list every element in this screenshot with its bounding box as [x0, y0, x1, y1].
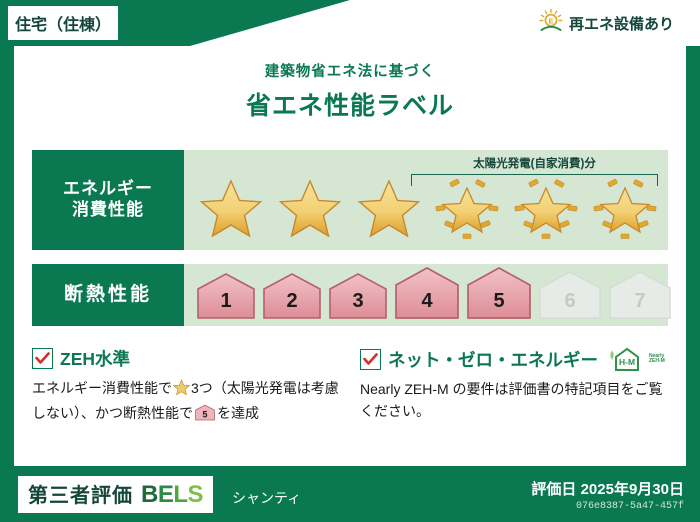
insulation-level-2-number: 2	[260, 290, 324, 313]
solar-bracket-label: 太陽光発電(自家消費)分	[411, 155, 658, 171]
renewable-badge-label: 再エネ設備あり	[569, 13, 674, 34]
evaluation-date: 評価日 2025年9月30日	[531, 478, 684, 499]
bels-letter-e: E	[158, 481, 174, 508]
zeh-text-part1: エネルギー消費性能で	[32, 380, 172, 396]
bels-letter-l: L	[173, 481, 187, 508]
star-rating	[192, 172, 664, 246]
insulation-level-5-number: 5	[464, 290, 534, 313]
star-item-solar	[428, 172, 507, 246]
net-zero-text: Nearly ZEH-M の要件は評価書の特記項目をご覧ください。	[360, 379, 674, 422]
zeh-standard-heading: ZEH水準	[32, 346, 346, 371]
evaluation-date-value: 2025年9月30日	[581, 481, 684, 498]
energy-label-line1: エネルギー	[63, 179, 153, 200]
insulation-level-1: 1	[194, 271, 258, 321]
zeh-m-logo-caption: Nearly ZEH-M	[649, 354, 665, 365]
insulation-level-4: 4	[392, 265, 462, 321]
insulation-level-2: 2	[260, 271, 324, 321]
svg-text:H-M: H-M	[619, 357, 635, 367]
star-item	[349, 172, 428, 246]
zeh-text-part3: を達成	[217, 405, 259, 421]
zeh-standard-text: エネルギー消費性能で3つ（太陽光発電は考慮しない）、かつ断熱性能で5を達成	[32, 378, 346, 427]
insulation-performance-label: 断熱性能	[32, 264, 184, 326]
insulation-level-6: 6	[536, 269, 604, 321]
energy-performance-row: エネルギー 消費性能 太陽光発電(自家消費)分	[32, 150, 668, 250]
footer-bar: 第三者評価 BELS シャンティ 評価日 2025年9月30日 076e8387…	[0, 466, 700, 522]
renewable-equipment-badge: E 再エネ設備あり	[530, 5, 686, 41]
star-solar-icon	[432, 176, 502, 242]
insulation-performance-row: 断熱性能 1	[32, 264, 668, 326]
star-icon	[199, 178, 263, 240]
insulation-scale-panel: 1 2 3 4	[184, 264, 668, 326]
svg-text:E: E	[548, 16, 553, 25]
energy-label-line2: 消費性能	[72, 200, 144, 221]
title-subtitle: 建築物省エネ法に基づく	[0, 60, 700, 81]
house-type-tag: 住宅（住棟）	[8, 6, 118, 40]
insulation-level-5: 5	[464, 265, 534, 321]
insulation-level-scale: 1 2 3 4	[194, 264, 658, 326]
zeh-standard-block: ZEH水準 エネルギー消費性能で3つ（太陽光発電は考慮しない）、かつ断熱性能で5…	[32, 346, 346, 427]
criteria-section: ZEH水準 エネルギー消費性能で3つ（太陽光発電は考慮しない）、かつ断熱性能で5…	[32, 346, 674, 427]
zeh-m-caption-line2: ZEH-M	[649, 358, 665, 364]
star-item	[192, 172, 271, 246]
star-item	[271, 172, 350, 246]
star-icon	[278, 178, 342, 240]
insulation-level-4-number: 4	[392, 290, 462, 313]
bels-certification-mark: 第三者評価 BELS	[18, 476, 213, 513]
zeh-standard-title: ZEH水準	[60, 346, 130, 371]
third-party-eval-label: 第三者評価	[28, 479, 133, 508]
insulation-level-6-number: 6	[536, 290, 604, 313]
star-solar-icon	[590, 176, 660, 242]
insulation-level-1-number: 1	[194, 290, 258, 313]
energy-rating-panel: 太陽光発電(自家消費)分	[184, 150, 668, 250]
house-level-5-icon: 5	[194, 408, 216, 424]
bels-logo-text: BELS	[141, 481, 203, 509]
evaluation-date-label: 評価日	[531, 481, 576, 498]
evaluation-info: 評価日 2025年9月30日 076e8387-5a47-457f	[531, 478, 684, 512]
bels-letter-b: B	[141, 481, 158, 508]
page-title: 省エネ性能ラベル	[0, 86, 700, 122]
insulation-level-3-number: 3	[326, 290, 390, 313]
star-solar-icon	[511, 176, 581, 242]
insulation-level-3: 3	[326, 271, 390, 321]
svg-text:5: 5	[203, 409, 208, 419]
energy-performance-label: エネルギー 消費性能	[32, 150, 184, 250]
checkmark-icon	[360, 349, 381, 370]
star-item-solar	[507, 172, 586, 246]
property-name: シャンティ	[232, 488, 301, 508]
evaluation-id: 076e8387-5a47-457f	[531, 501, 684, 512]
net-zero-energy-block: ネット・ゼロ・エネルギー H-M Nearly ZEH-M Nearly ZEH…	[360, 346, 674, 427]
insulation-level-7: 7	[606, 269, 674, 321]
bels-letter-s: S	[188, 481, 204, 508]
zeh-m-house-logo: H-M	[607, 346, 641, 372]
house-type-label: 住宅（住棟）	[15, 11, 111, 35]
label-frame: 住宅（住棟） E 再エネ設備あり 建築物省エネ	[0, 0, 700, 522]
net-zero-heading: ネット・ゼロ・エネルギー H-M Nearly ZEH-M	[360, 346, 674, 372]
star-icon	[173, 383, 190, 399]
sun-renewable-icon: E	[538, 8, 564, 39]
star-item-solar	[585, 172, 664, 246]
net-zero-title: ネット・ゼロ・エネルギー	[388, 347, 598, 372]
star-icon	[357, 178, 421, 240]
title-block: 建築物省エネ法に基づく 省エネ性能ラベル	[0, 60, 700, 122]
checkmark-icon	[32, 348, 53, 369]
insulation-level-7-number: 7	[606, 290, 674, 313]
insulation-label-text: 断熱性能	[64, 283, 152, 306]
